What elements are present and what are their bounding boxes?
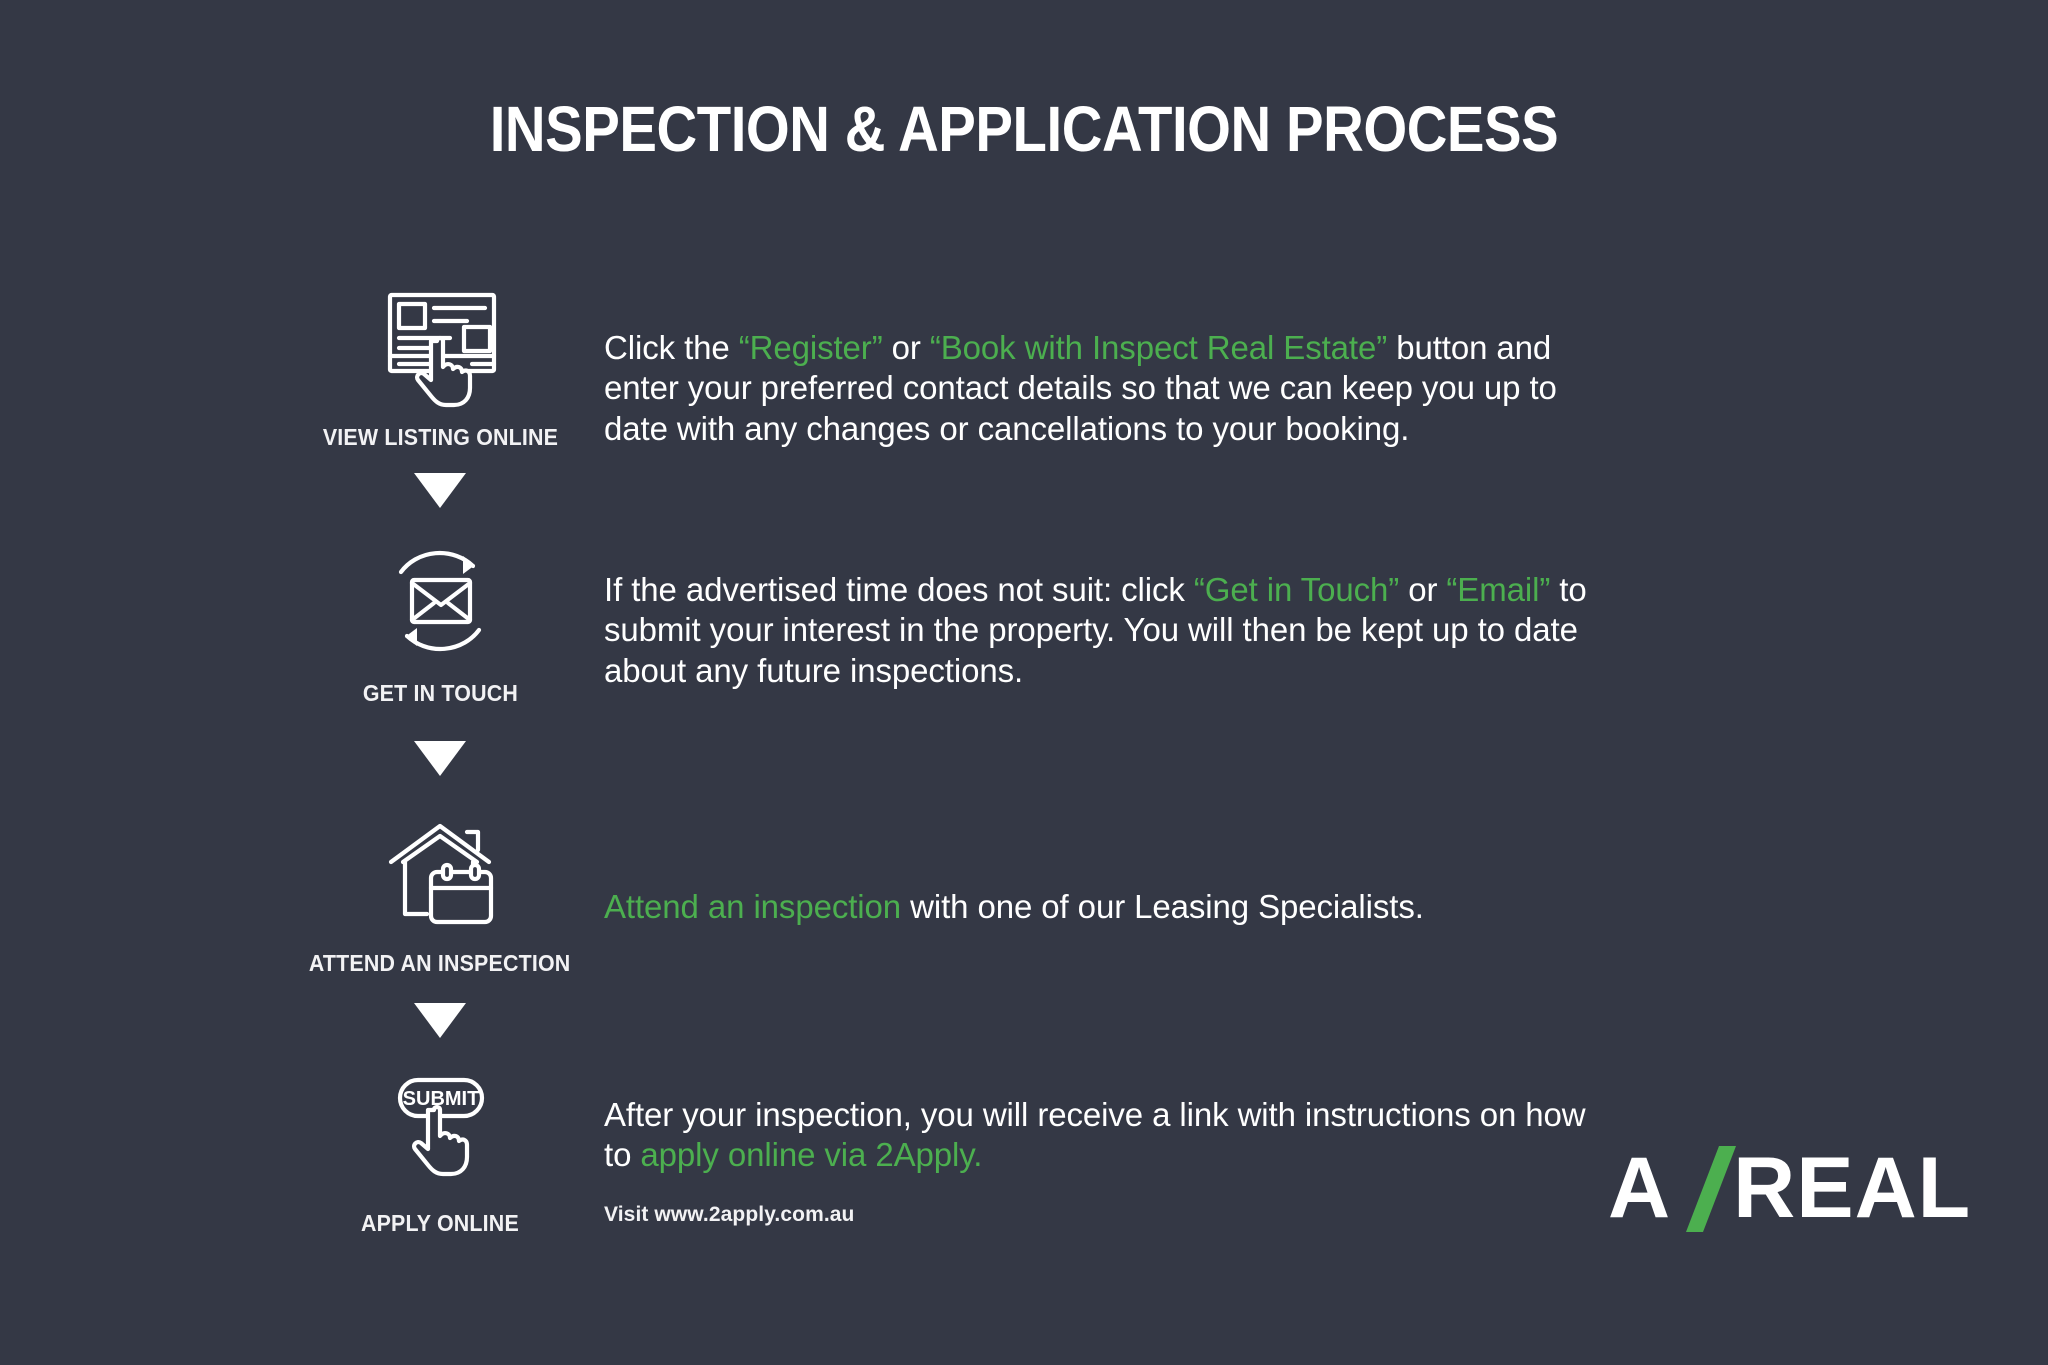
- brand-logo: A REAL: [1608, 1148, 1971, 1228]
- text-segment: or: [883, 329, 930, 366]
- text-segment: or: [1399, 571, 1446, 608]
- text-segment-highlight: “Email”: [1446, 571, 1550, 608]
- logo-word-real: REAL: [1733, 1145, 1971, 1231]
- submit-icon-label: SUBMIT: [403, 1088, 480, 1110]
- text-segment-highlight: Attend an inspection: [604, 888, 901, 925]
- logo-letter-a: A: [1608, 1145, 1671, 1231]
- flow-arrow-2: [270, 741, 610, 776]
- house-calendar-icon: [365, 806, 515, 936]
- flow-arrow-1: [270, 473, 610, 508]
- step-label: ATTEND AN INSPECTION: [309, 950, 571, 977]
- listing-click-icon: [365, 280, 515, 410]
- text-segment-highlight: “Get in Touch”: [1194, 571, 1399, 608]
- text-segment: Click the: [604, 329, 739, 366]
- step-node-get-in-touch: GET IN TOUCH: [270, 536, 610, 707]
- step-label: GET IN TOUCH: [362, 680, 517, 707]
- step-node-view-listing-online: VIEW LISTING ONLINE: [270, 280, 610, 451]
- envelope-refresh-icon: [365, 536, 515, 666]
- step-node-attend-an-inspection: ATTEND AN INSPECTION: [270, 806, 610, 977]
- step-paragraph-4: After your inspection, you will receive …: [604, 1095, 1614, 1176]
- text-segment: If the advertised time does not suit: cl…: [604, 571, 1194, 608]
- step-paragraph-3: Attend an inspection with one of our Lea…: [604, 887, 1614, 927]
- process-flow-column: VIEW LISTING ONLINE GET IN TOUCH: [270, 280, 610, 1237]
- text-segment: with one of our Leasing Specialists.: [901, 888, 1424, 925]
- step-node-apply-online: SUBMIT APPLY ONLINE: [270, 1066, 610, 1237]
- down-triangle-icon: [414, 473, 466, 508]
- infographic-page: INSPECTION & APPLICATION PROCESS: [0, 0, 2048, 1365]
- down-triangle-icon: [414, 1003, 466, 1038]
- page-title: INSPECTION & APPLICATION PROCESS: [123, 92, 1925, 166]
- green-slash-icon: [1677, 1148, 1731, 1228]
- step-label: APPLY ONLINE: [361, 1210, 519, 1237]
- submit-button-click-icon: SUBMIT: [365, 1066, 515, 1196]
- text-segment-highlight: apply online via 2Apply.: [640, 1136, 982, 1173]
- text-segment-highlight: “Book with Inspect Real Estate”: [930, 329, 1387, 366]
- visit-url-note: Visit www.2apply.com.au: [604, 1203, 855, 1227]
- step-label: VIEW LISTING ONLINE: [322, 424, 557, 451]
- down-triangle-icon: [414, 741, 466, 776]
- text-segment-highlight: “Register”: [739, 329, 883, 366]
- step-paragraph-1: Click the “Register” or “Book with Inspe…: [604, 328, 1614, 449]
- step-paragraph-2: If the advertised time does not suit: cl…: [604, 570, 1614, 691]
- flow-arrow-3: [270, 1003, 610, 1038]
